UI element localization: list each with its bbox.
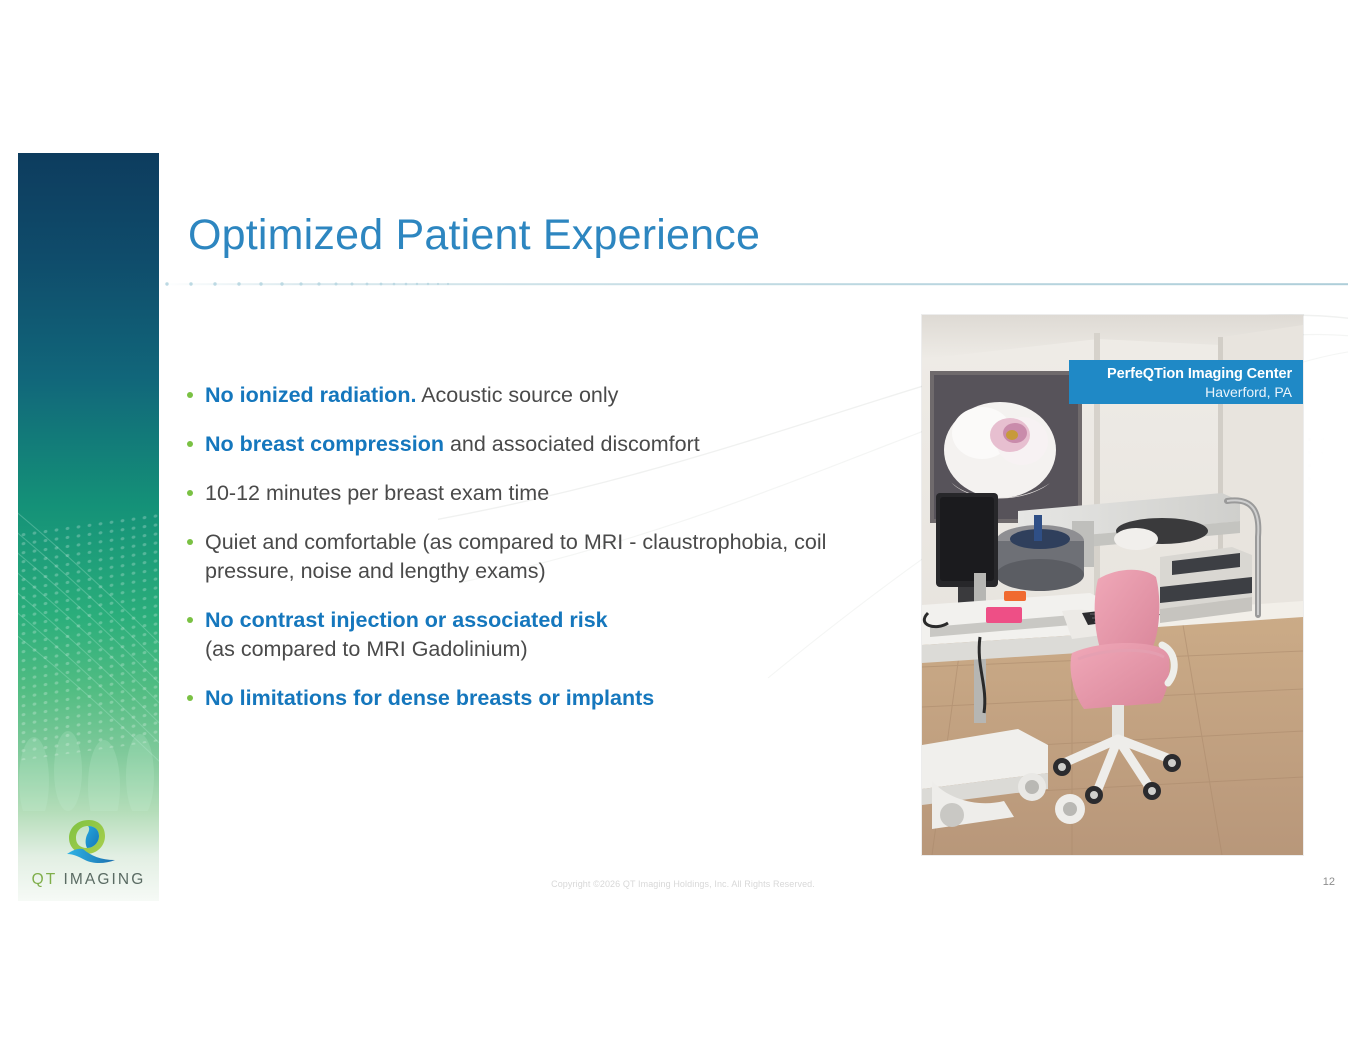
bullet-item-6: No limitations for dense breasts or impl… [185,684,920,713]
rail-figure-silhouettes [18,631,159,811]
bullet-item-3: 10-12 minutes per breast exam time [185,479,920,508]
bullet-1-text: Acoustic source only [416,383,618,407]
page-title: Optimized Patient Experience [188,211,760,260]
bullet-item-5: No contrast injection or associated risk… [185,606,920,664]
bullet-2-bold: No breast compression [205,432,444,456]
page-number: 12 [1323,876,1335,888]
bullet-6-bold: No limitations for dense breasts or impl… [205,686,654,710]
bullet-item-4: Quiet and comfortable (as compared to MR… [185,528,920,586]
bullet-item-2: No breast compression and associated dis… [185,430,920,459]
bullet-5-subtext: (as compared to MRI Gadolinium) [205,635,920,664]
bullet-5-bold: No contrast injection or associated risk [205,608,608,632]
qt-logo-mark-icon [61,816,117,868]
photo-caption-banner: PerfeQTion Imaging Center Haverford, PA [1069,360,1303,404]
bullet-list: No ionized radiation. Acoustic source on… [185,381,920,733]
bullet-2-text: and associated discomfort [444,432,700,456]
slide-canvas: QT IMAGING Optimized Patient Experience [18,153,1348,901]
photo-caption-subtitle: Haverford, PA [1069,383,1292,401]
bullet-4-text: Quiet and comfortable (as compared to MR… [205,530,826,583]
photo-caption-title: PerfeQTion Imaging Center [1069,365,1292,383]
bullet-3-text: 10-12 minutes per breast exam time [205,481,549,505]
left-brand-rail: QT IMAGING [18,153,159,901]
bullet-1-bold: No ionized radiation. [205,383,416,407]
copyright-notice: Copyright ©2026 QT Imaging Holdings, Inc… [18,879,1348,889]
bullet-item-1: No ionized radiation. Acoustic source on… [185,381,920,410]
imaging-center-photo: PerfeQTion Imaging Center Haverford, PA [922,315,1303,855]
title-divider-rule [161,282,1348,286]
